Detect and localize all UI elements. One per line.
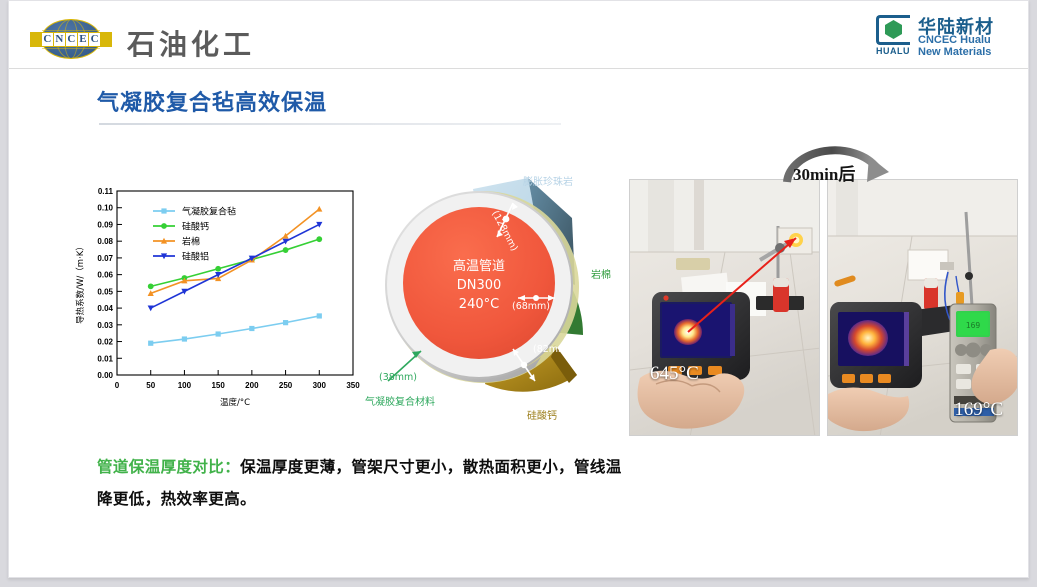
svg-text:0.02: 0.02 [97,338,113,347]
svg-text:250: 250 [279,381,293,390]
svg-text:350: 350 [346,381,360,390]
svg-text:200: 200 [245,381,259,390]
pipe-insulation-diagram: 高温管道 DN300 240°C 膨胀珍珠岩 岩棉 硅酸钙 气凝胶复合材料 (1… [365,169,627,431]
svg-text:100: 100 [178,381,192,390]
company-wordmark: 石油化工 [127,23,255,63]
temperature-reading-before: 645°C [650,363,699,385]
summary-text: 管道保温厚度对比：保温厚度更薄，管架尺寸更小，散热面积更小，管线温降更低，热效率… [97,451,637,515]
layer-label-aerogel: 气凝胶复合材料 [365,393,435,408]
hualu-en-line2: New Materials [918,46,991,58]
chart-svg: 0.000.010.020.030.040.050.060.070.080.09… [71,179,361,414]
layer-thickness-aerogel: (38mm) [379,372,417,383]
hualu-en-line1: CNCEC Hualu [918,34,991,46]
cncec-letter: C [66,33,77,46]
svg-text:150: 150 [211,381,225,390]
cncec-letter-band: C N C E C [30,32,112,47]
svg-text:0.06: 0.06 [97,271,113,280]
transition-arrow-label: 30min后 [793,160,855,185]
layer-label-perlite: 膨胀珍珠岩 [523,173,573,188]
svg-text:50: 50 [146,381,155,390]
title-underline [99,123,561,125]
cncec-letter: N [54,33,65,46]
svg-text:0.00: 0.00 [97,371,113,380]
summary-highlight: 管道保温厚度对比： [97,458,240,476]
svg-text:气凝胶复合毡: 气凝胶复合毡 [182,206,236,218]
globe-parallel [42,48,100,49]
experiment-photos: 645°C [629,179,1019,436]
thermal-photo-before[interactable]: 645°C [629,179,820,436]
svg-text:0.07: 0.07 [97,254,113,263]
layer-label-calcium: 硅酸钙 [527,407,557,422]
svg-text:0.08: 0.08 [97,237,113,246]
svg-text:0.10: 0.10 [97,204,113,213]
hualu-mark-word: HUALU [876,46,910,56]
svg-text:300: 300 [313,381,327,390]
photo-left-graphic [630,180,820,436]
photo-right-graphic: 169 [828,180,1018,436]
chart-plot-frame [117,191,353,375]
cncec-letter: C [89,33,100,46]
svg-text:0.09: 0.09 [97,220,113,229]
svg-text:169: 169 [966,321,981,330]
cncec-letter: C [42,33,53,46]
slide-header: C N C E C 石油化工 HUALU 华陆新材 CNCEC Hualu Ne… [9,1,1029,69]
svg-text:0: 0 [115,381,120,390]
thermal-photo-after[interactable]: 169 169°C [827,179,1018,436]
svg-text:硅酸钙: 硅酸钙 [182,221,209,233]
hualu-logo-icon: HUALU 华陆新材 CNCEC Hualu New Materials [876,13,1016,59]
temperature-reading-after: 169°C [954,399,1003,421]
slide-canvas: C N C E C 石油化工 HUALU 华陆新材 CNCEC Hualu Ne… [8,0,1029,578]
header-divider [9,68,1029,69]
svg-text:硅酸铝: 硅酸铝 [182,251,209,263]
cncec-letter: E [78,33,88,46]
cncec-logo-icon: C N C E C [30,19,112,59]
svg-text:0.05: 0.05 [97,287,113,296]
chart-x-axis-title: 温度/°C [220,397,250,408]
thermal-conductivity-chart: 0.000.010.020.030.040.050.060.070.080.09… [71,179,361,414]
svg-text:0.03: 0.03 [97,321,113,330]
svg-text:0.11: 0.11 [98,187,114,196]
layer-label-rockwool: 岩棉 [591,266,611,281]
pipe-core-line1: 高温管道 [413,257,545,276]
page-title: 气凝胶复合毡高效保温 [97,85,327,117]
layer-thickness-rockwool: (68mm) [512,301,550,312]
pipe-core-line2: DN300 [413,276,545,295]
globe-parallel [42,30,100,31]
chart-y-axis-title: 导热系数/W/（m·K） [75,242,86,324]
svg-text:岩棉: 岩棉 [182,236,200,248]
svg-text:0.01: 0.01 [97,354,113,363]
layer-thickness-calcium: (82mm) [533,344,571,355]
svg-text:0.04: 0.04 [97,304,113,313]
